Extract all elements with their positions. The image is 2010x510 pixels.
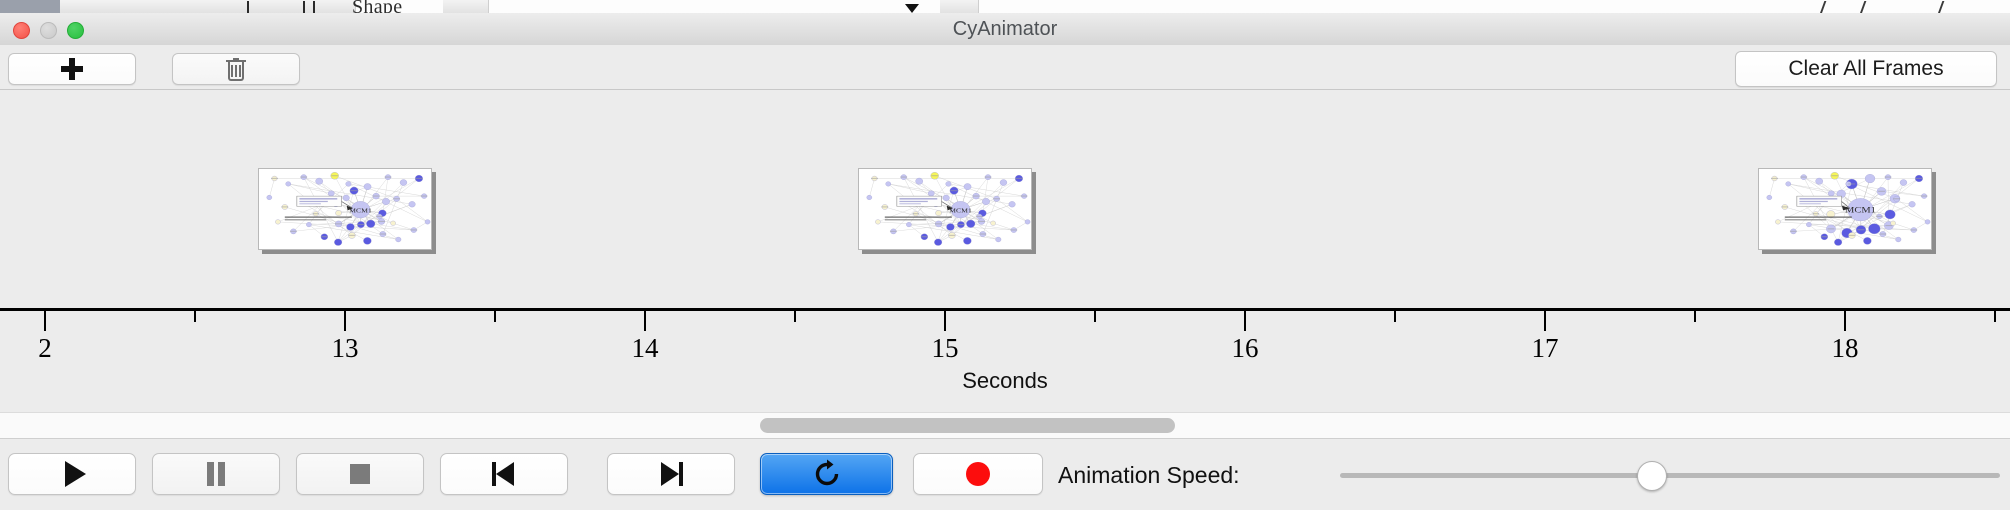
tick-major — [944, 311, 946, 331]
frame-thumbnail[interactable]: MCM1 — [258, 168, 432, 250]
record-button[interactable] — [913, 453, 1043, 495]
tick-minor — [1994, 311, 1996, 322]
background-window-strip: Shape — [0, 0, 2010, 13]
tick-label: 2 — [38, 333, 52, 364]
tick-major — [44, 311, 46, 331]
clear-all-frames-label: Clear All Frames — [1788, 57, 1943, 81]
title-bar: CyAnimator — [0, 13, 2010, 46]
tick-major — [1844, 311, 1846, 331]
play-button[interactable] — [8, 453, 136, 495]
skip-back-icon — [492, 462, 516, 486]
record-icon — [966, 462, 990, 486]
svg-text:MCM1: MCM1 — [949, 207, 972, 214]
timeline-axis — [0, 308, 2010, 311]
loop-button[interactable] — [760, 453, 893, 495]
tick-minor — [1694, 311, 1696, 322]
add-frame-button[interactable] — [8, 53, 136, 85]
animation-speed-label: Animation Speed: — [1058, 439, 1240, 510]
plus-icon — [61, 58, 83, 80]
clear-all-frames-button[interactable]: Clear All Frames — [1735, 51, 1997, 87]
tick-label: 18 — [1832, 333, 1859, 364]
tick-label: 13 — [332, 333, 359, 364]
animation-speed-slider-thumb[interactable] — [1637, 461, 1667, 491]
tick-major — [344, 311, 346, 331]
tick-label: 17 — [1532, 333, 1559, 364]
playback-control-bar: Animation Speed: — [0, 438, 2010, 510]
timeline-scrollbar-thumb[interactable] — [760, 418, 1175, 433]
background-shape-label: Shape — [352, 0, 402, 13]
tick-minor — [494, 311, 496, 322]
delete-frame-button[interactable] — [172, 53, 300, 85]
timeline-scrollbar[interactable] — [0, 412, 2010, 439]
tick-major — [644, 311, 646, 331]
tick-label: 15 — [932, 333, 959, 364]
window-title: CyAnimator — [0, 13, 2010, 45]
pause-button[interactable] — [152, 453, 280, 495]
skip-to-start-button[interactable] — [440, 453, 568, 495]
tick-minor — [194, 311, 196, 322]
cyanimator-window: Shape CyAnimator Clear All Frames — [0, 0, 2010, 510]
trash-icon — [226, 58, 246, 81]
stop-button[interactable] — [296, 453, 424, 495]
tick-major — [1244, 311, 1246, 331]
tick-major — [1544, 311, 1546, 331]
axis-title: Seconds — [0, 368, 2010, 394]
svg-text:MCM1: MCM1 — [1845, 206, 1876, 215]
frame-thumbnail[interactable]: MCM1 — [858, 168, 1032, 250]
tick-minor — [794, 311, 796, 322]
pause-icon — [206, 462, 226, 486]
play-icon — [65, 461, 86, 487]
tick-minor — [1394, 311, 1396, 322]
timeline-panel[interactable]: MCM1 MCM1 MCM1 2131415161718 Seconds — [0, 90, 2010, 410]
tick-label: 16 — [1232, 333, 1259, 364]
stop-icon — [350, 464, 370, 484]
tick-minor — [1094, 311, 1096, 322]
loop-icon — [812, 459, 842, 489]
skip-forward-icon — [659, 462, 683, 486]
frame-thumbnail[interactable]: MCM1 — [1758, 168, 1932, 250]
animation-speed-slider[interactable] — [1340, 473, 2000, 478]
tick-label: 14 — [632, 333, 659, 364]
toolbar: Clear All Frames — [0, 45, 2010, 90]
svg-text:MCM1: MCM1 — [349, 207, 372, 214]
skip-to-end-button[interactable] — [607, 453, 735, 495]
